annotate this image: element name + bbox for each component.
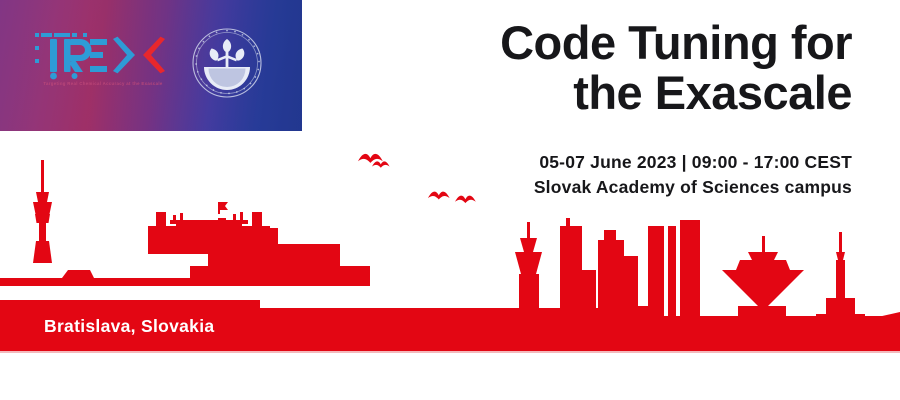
funding-footer: The TREX: Targeting Real Chemical Accura…	[0, 353, 900, 400]
event-banner: Targeting Real Chemical Accuracy at the …	[0, 0, 900, 400]
city-label: Bratislava, Slovakia	[44, 316, 214, 337]
event-title-line-1: Code Tuning for	[500, 16, 852, 69]
event-title-line-2: the Exascale	[292, 68, 852, 118]
trex-logo: Targeting Real Chemical Accuracy at the …	[33, 30, 173, 98]
event-title: Code Tuning for the Exascale	[292, 18, 852, 119]
slovak-academy-emblem-icon	[191, 27, 263, 99]
logo-panel: Targeting Real Chemical Accuracy at the …	[0, 0, 302, 131]
trex-wordmark-icon	[33, 30, 173, 82]
trex-tagline: Targeting Real Chemical Accuracy at the …	[33, 82, 173, 87]
